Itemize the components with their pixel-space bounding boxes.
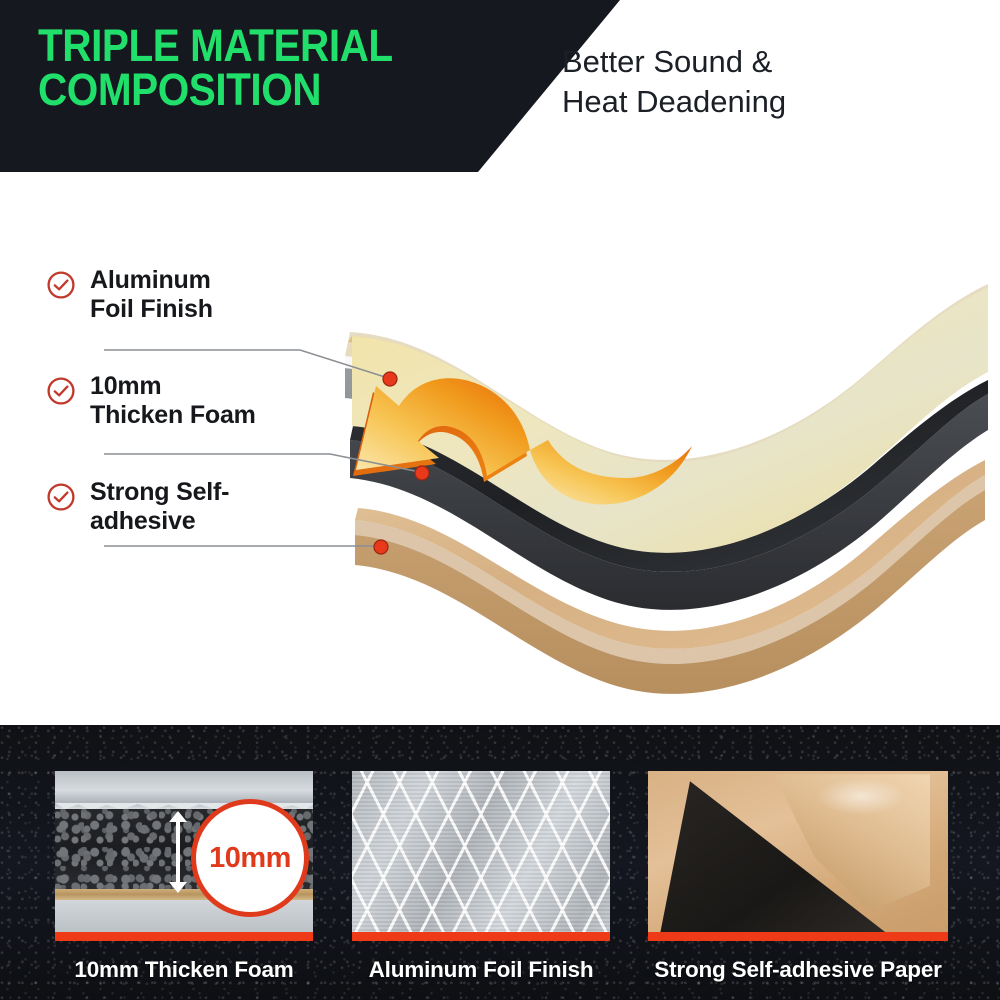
feature-label: Aluminum Foil Finish: [90, 266, 213, 325]
foam-cross-section-photo: 10mm: [55, 771, 313, 941]
check-circle-icon: [46, 376, 76, 411]
panel-red-bar: [352, 932, 610, 941]
feature-item-thicken-foam[interactable]: 10mm Thicken Foam: [46, 372, 256, 431]
illustration-area: Aluminum Foil Finish 10mm Thicken Foam: [0, 172, 1000, 725]
photo-panel-foil[interactable]: Aluminum Foil Finish: [352, 771, 610, 941]
thickness-arrow-icon: [176, 821, 180, 883]
photo-panel-adhesive[interactable]: Strong Self-adhesive Paper: [648, 771, 948, 941]
foil-backing-layer: [345, 310, 988, 532]
kraft-paper-layer: [355, 460, 985, 694]
check-circle-icon: [46, 270, 76, 305]
panel-red-bar: [648, 932, 948, 941]
panel-caption: Aluminum Foil Finish: [352, 957, 610, 983]
photo-panels: 10mm 10mm Thicken Foam Aluminum Foil Fin…: [0, 725, 1000, 1000]
panel-caption: 10mm Thicken Foam: [55, 957, 313, 983]
feature-item-aluminum-foil[interactable]: Aluminum Foil Finish: [46, 266, 213, 325]
feature-label: 10mm Thicken Foam: [90, 372, 256, 431]
aluminum-foil-layer: [345, 284, 988, 568]
feature-label: Strong Self- adhesive: [90, 478, 229, 537]
leader-endpoint-markers: [374, 372, 429, 554]
foil-surface: [352, 287, 988, 553]
panel-caption: Strong Self-adhesive Paper: [648, 957, 948, 983]
panel-red-bar: [55, 932, 313, 941]
adhesive-peel-photo: [648, 771, 948, 941]
thickness-badge: 10mm: [191, 799, 309, 917]
foil-top-highlight: [348, 287, 988, 473]
feature-item-self-adhesive[interactable]: Strong Self- adhesive: [46, 478, 229, 537]
feature-list: Aluminum Foil Finish 10mm Thicken Foam: [0, 172, 360, 725]
page-title: TRIPLE MATERIAL COMPOSITION: [38, 24, 425, 112]
infographic-root: TRIPLE MATERIAL COMPOSITION Better Sound…: [0, 0, 1000, 1000]
black-foam-layer: [350, 380, 988, 610]
aluminum-foil-texture-photo: [352, 771, 610, 941]
header-band: TRIPLE MATERIAL COMPOSITION Better Sound…: [0, 0, 1000, 172]
photo-panel-foam[interactable]: 10mm 10mm Thicken Foam: [55, 771, 313, 941]
check-circle-icon: [46, 482, 76, 517]
heat-reflect-arrow: [353, 378, 692, 504]
header-subtitle: Better Sound & Heat Deadening: [562, 42, 982, 121]
bottom-photo-band: 10mm 10mm Thicken Foam Aluminum Foil Fin…: [0, 725, 1000, 1000]
